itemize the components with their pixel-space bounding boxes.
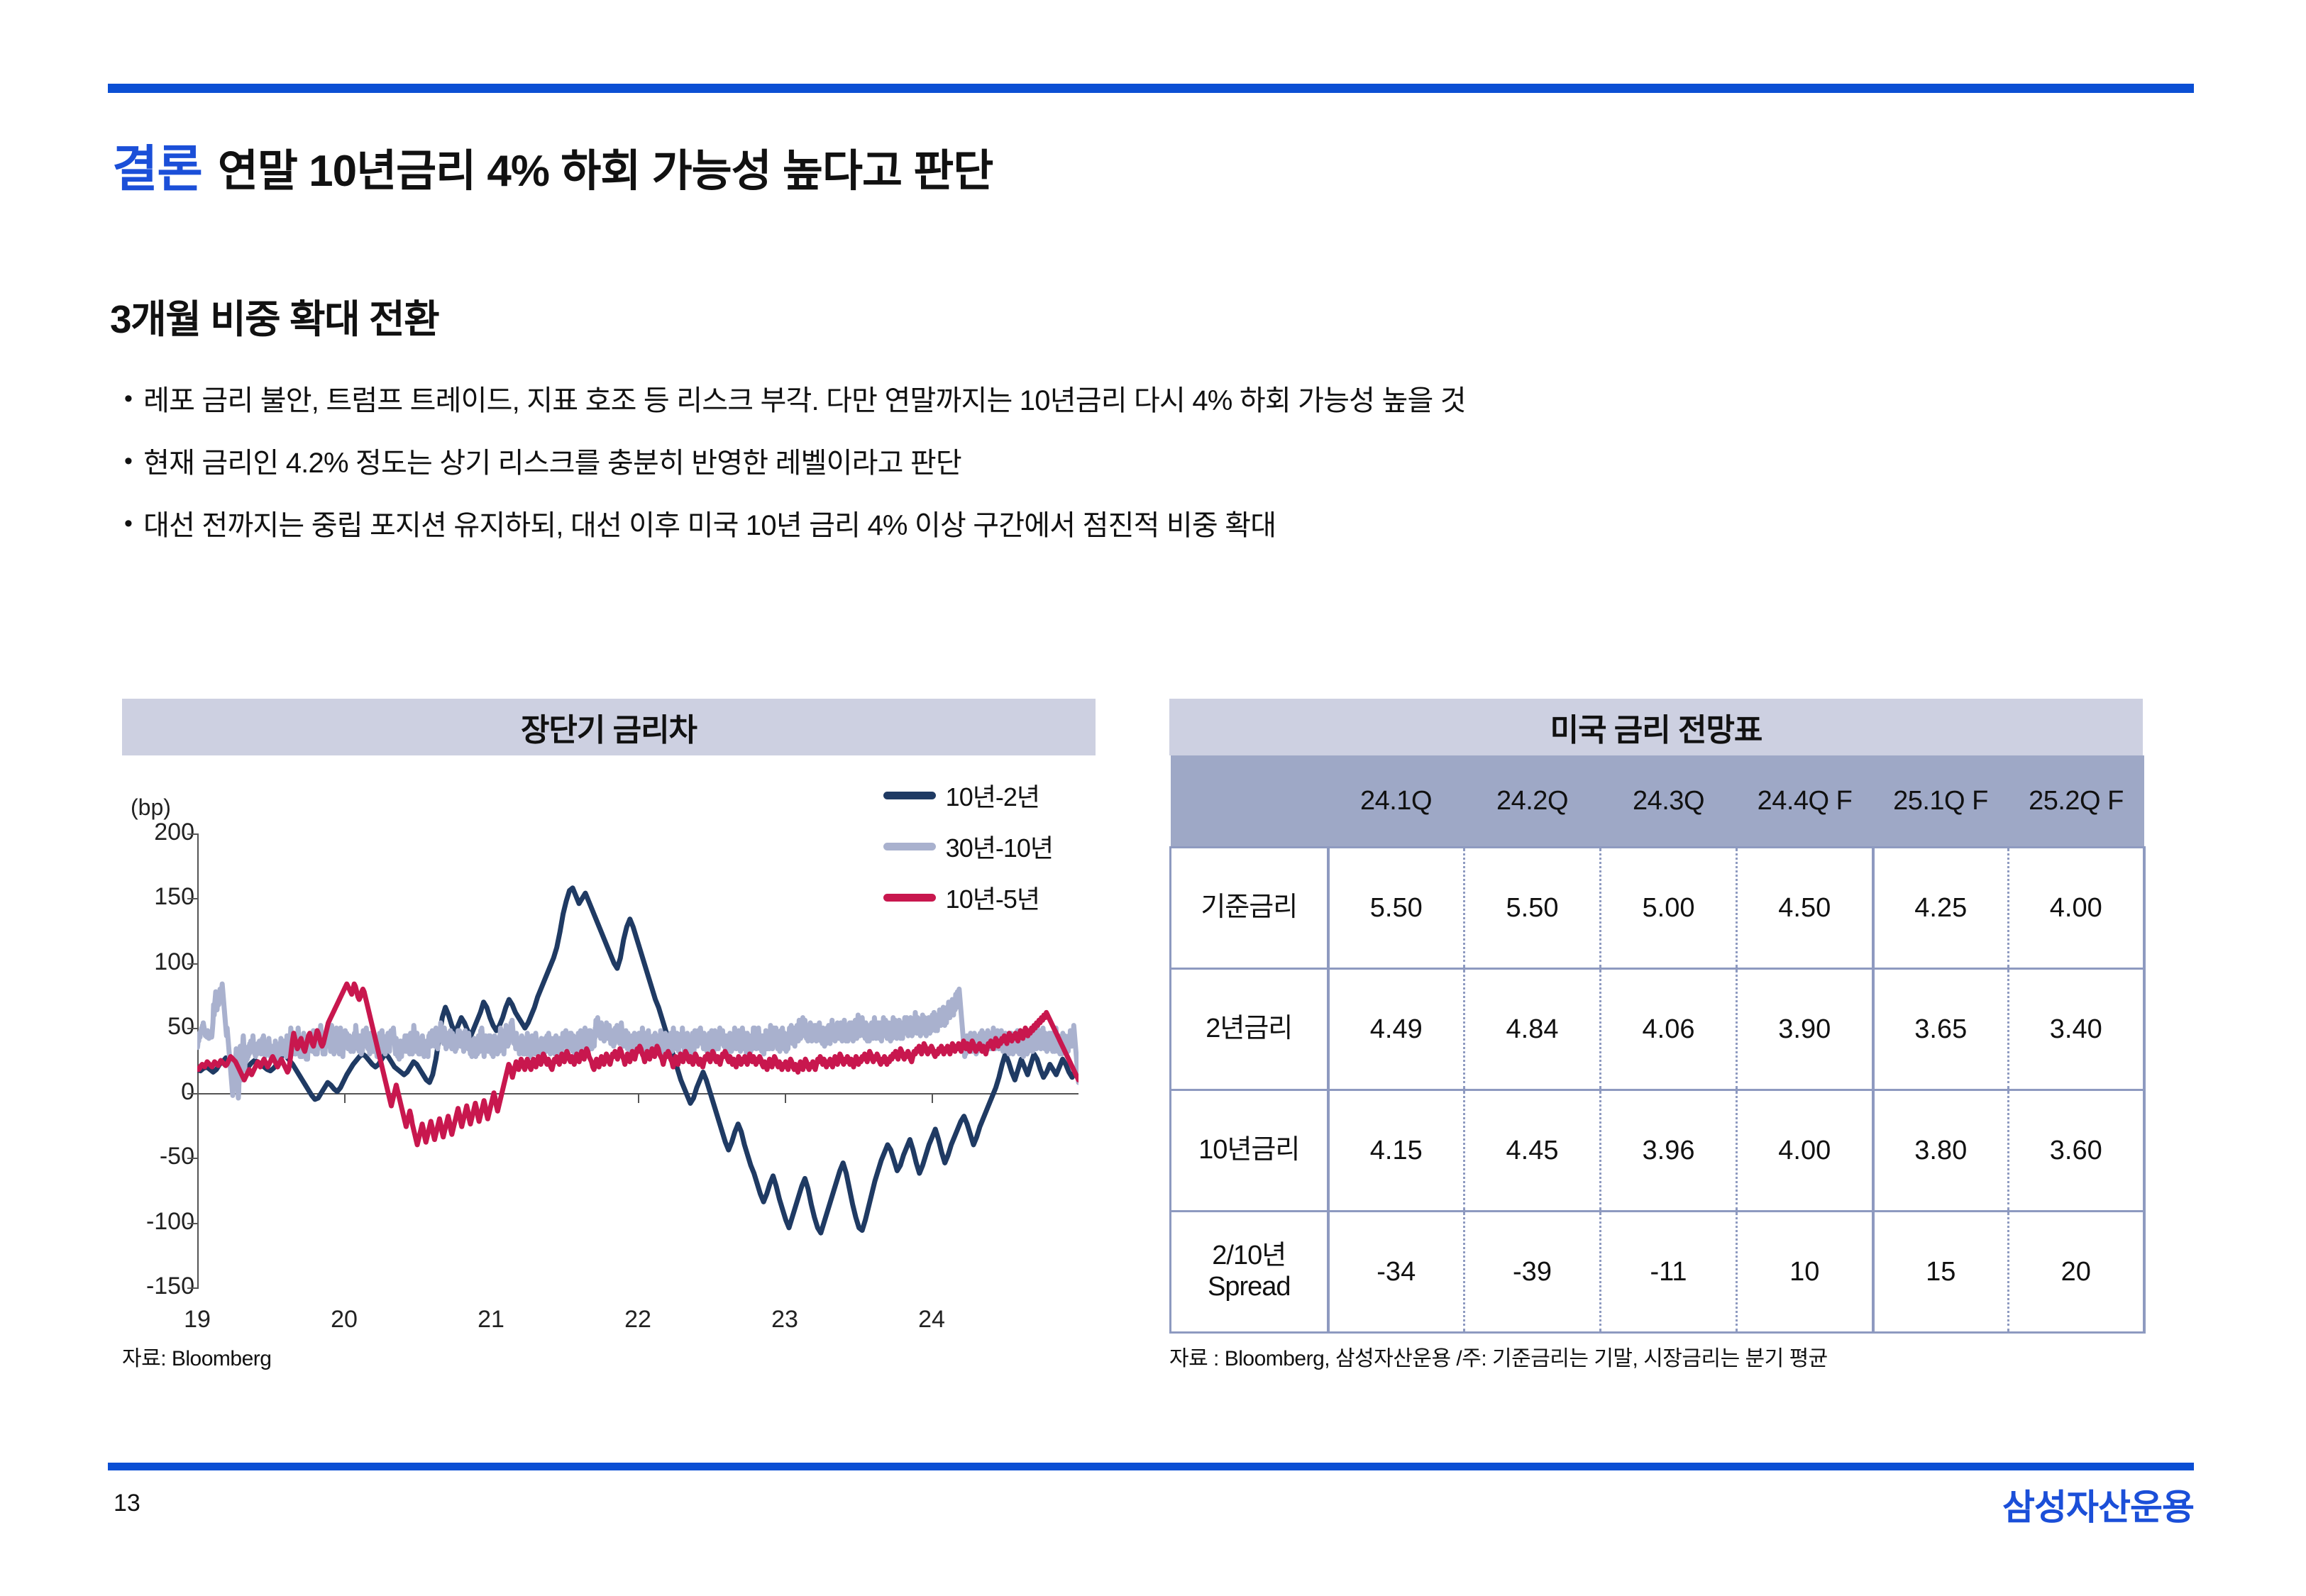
list-item: • 대선 전까지는 중립 포지션 유지하되, 대선 이후 미국 10년 금리 4…	[124, 508, 2111, 543]
chart-title: 장단기 금리차	[521, 704, 697, 750]
y-tick-label: -150	[112, 1273, 194, 1300]
brand-logo: 삼성자산운용	[2002, 1479, 2194, 1530]
table-cell: -11	[1601, 1212, 1737, 1333]
legend-swatch-icon	[883, 894, 936, 902]
y-tick-label: 100	[112, 948, 194, 976]
legend-swatch-icon	[883, 792, 936, 799]
legend-label: 30년-10년	[946, 828, 1053, 865]
table-row-label: 10년금리	[1171, 1090, 1328, 1212]
chart-panel: 장단기 금리차 (bp) 200150100500-50-100-150 192…	[122, 699, 1096, 1380]
legend-label: 10년-2년	[946, 777, 1039, 814]
legend-swatch-icon	[883, 843, 936, 850]
table-cell: 4.49	[1328, 969, 1464, 1090]
table-cell: 3.40	[2009, 969, 2144, 1090]
table-head: 24.1Q24.2Q24.3Q24.4Q F25.1Q F25.2Q F	[1171, 755, 2144, 848]
legend-item: 10년-2년	[883, 777, 1053, 814]
legend-item: 30년-10년	[883, 828, 1053, 865]
table-cell: 5.50	[1328, 848, 1464, 969]
table-row: 10년금리4.154.453.964.003.803.60	[1171, 1090, 2144, 1212]
y-tick-label: 150	[112, 883, 194, 911]
chart-header-bar: 장단기 금리차	[122, 699, 1096, 755]
table-column-header: 24.1Q	[1328, 755, 1464, 848]
table-row: 2년금리4.494.844.063.903.653.40	[1171, 969, 2144, 1090]
table-cell: 5.00	[1601, 848, 1737, 969]
title-text: 연말 10년금리 4% 하회 가능성 높다고 판단	[218, 135, 993, 199]
bullet-list: • 레포 금리 불안, 트럼프 트레이드, 지표 호조 등 리스크 부각. 다만…	[124, 383, 2111, 570]
y-tick-label: -100	[112, 1208, 194, 1236]
table-cell: 3.96	[1601, 1090, 1737, 1212]
table-row: 2/10년Spread-34-39-11101520	[1171, 1212, 2144, 1333]
table-cell: 4.45	[1464, 1090, 1601, 1212]
table-cell: 4.15	[1328, 1090, 1464, 1212]
chart-series-line	[197, 888, 1078, 1233]
table-row-label: 2년금리	[1171, 969, 1328, 1090]
legend-label: 10년-5년	[946, 879, 1039, 916]
y-tick-label: -50	[112, 1143, 194, 1170]
y-tick-label: 50	[112, 1013, 194, 1041]
legend-item: 10년-5년	[883, 879, 1053, 916]
x-tick-label: 19	[184, 1306, 211, 1334]
table-column-header: 24.3Q	[1601, 755, 1737, 848]
table-column-header: 24.4Q F	[1737, 755, 1873, 848]
table-cell: 4.50	[1737, 848, 1873, 969]
table-cell: 4.00	[2009, 848, 2144, 969]
slide-root: 결론 연말 10년금리 4% 하회 가능성 높다고 판단 3개월 비중 확대 전…	[0, 0, 2306, 1596]
table-row-label: 2/10년Spread	[1171, 1212, 1328, 1333]
table-cell: 3.90	[1737, 969, 1873, 1090]
chart-body: (bp) 200150100500-50-100-150 19202122232…	[122, 755, 1096, 1380]
x-tick-label: 20	[331, 1306, 358, 1334]
bottom-divider-rule	[108, 1463, 2194, 1470]
table-cell: 20	[2009, 1212, 2144, 1333]
rate-forecast-table: 24.1Q24.2Q24.3Q24.4Q F25.1Q F25.2Q F 기준금…	[1169, 755, 2146, 1334]
list-item: • 레포 금리 불안, 트럼프 트레이드, 지표 호조 등 리스크 부각. 다만…	[124, 383, 2111, 419]
section-subtitle: 3개월 비중 확대 전환	[110, 287, 438, 344]
table-row: 기준금리5.505.505.004.504.254.00	[1171, 848, 2144, 969]
page-number: 13	[114, 1490, 140, 1517]
bullet-text: 대선 전까지는 중립 포지션 유지하되, 대선 이후 미국 10년 금리 4% …	[143, 508, 1276, 543]
y-tick-label: 200	[112, 819, 194, 846]
chart-source-note: 자료: Bloomberg	[122, 1341, 271, 1372]
bullet-text: 현재 금리인 4.2% 정도는 상기 리스크를 충분히 반영한 레벨이라고 판단	[143, 445, 961, 481]
y-tick-label: 0	[112, 1078, 194, 1106]
top-divider-rule	[108, 84, 2194, 93]
table-panel: 미국 금리 전망표 24.1Q24.2Q24.3Q24.4Q F25.1Q F2…	[1169, 699, 2143, 1334]
list-item: • 현재 금리인 4.2% 정도는 상기 리스크를 충분히 반영한 레벨이라고 …	[124, 445, 2111, 481]
x-tick-label: 22	[624, 1306, 651, 1334]
title-tag: 결론	[112, 129, 202, 201]
bullet-dot-icon: •	[124, 508, 132, 541]
bullet-dot-icon: •	[124, 445, 132, 478]
table-cell: 4.06	[1601, 969, 1737, 1090]
page-title: 결론 연말 10년금리 4% 하회 가능성 높다고 판단	[112, 129, 993, 201]
table-cell: 3.60	[2009, 1090, 2144, 1212]
table-column-header: 25.1Q F	[1873, 755, 2009, 848]
bullet-text: 레포 금리 불안, 트럼프 트레이드, 지표 호조 등 리스크 부각. 다만 연…	[143, 383, 1466, 419]
table-title: 미국 금리 전망표	[1550, 704, 1762, 750]
table-cell: 15	[1873, 1212, 2009, 1333]
chart-legend: 10년-2년30년-10년10년-5년	[883, 777, 1053, 916]
table-column-header: 24.2Q	[1464, 755, 1601, 848]
table-header-row: 24.1Q24.2Q24.3Q24.4Q F25.1Q F25.2Q F	[1171, 755, 2144, 848]
table-cell: 4.84	[1464, 969, 1601, 1090]
x-tick-label: 21	[478, 1306, 504, 1334]
table-cell: 3.65	[1873, 969, 2009, 1090]
table-cell: -39	[1464, 1212, 1601, 1333]
x-tick-label: 24	[918, 1306, 945, 1334]
x-tick-label: 23	[771, 1306, 798, 1334]
table-header-bar: 미국 금리 전망표	[1169, 699, 2143, 755]
table-cell: 5.50	[1464, 848, 1601, 969]
table-column-header: 25.2Q F	[2009, 755, 2144, 848]
table-cell: 10	[1737, 1212, 1873, 1333]
table-corner-cell	[1171, 755, 1328, 848]
table-cell: 4.00	[1737, 1090, 1873, 1212]
table-cell: 4.25	[1873, 848, 2009, 969]
table-row-label: 기준금리	[1171, 848, 1328, 969]
y-axis-unit-label: (bp)	[131, 794, 171, 821]
table-cell: 3.80	[1873, 1090, 2009, 1212]
bullet-dot-icon: •	[124, 383, 132, 416]
table-source-note: 자료 : Bloomberg, 삼성자산운용 /주: 기준금리는 기말, 시장금…	[1169, 1341, 1828, 1372]
table-body: 기준금리5.505.505.004.504.254.002년금리4.494.84…	[1171, 848, 2144, 1333]
table-cell: -34	[1328, 1212, 1464, 1333]
